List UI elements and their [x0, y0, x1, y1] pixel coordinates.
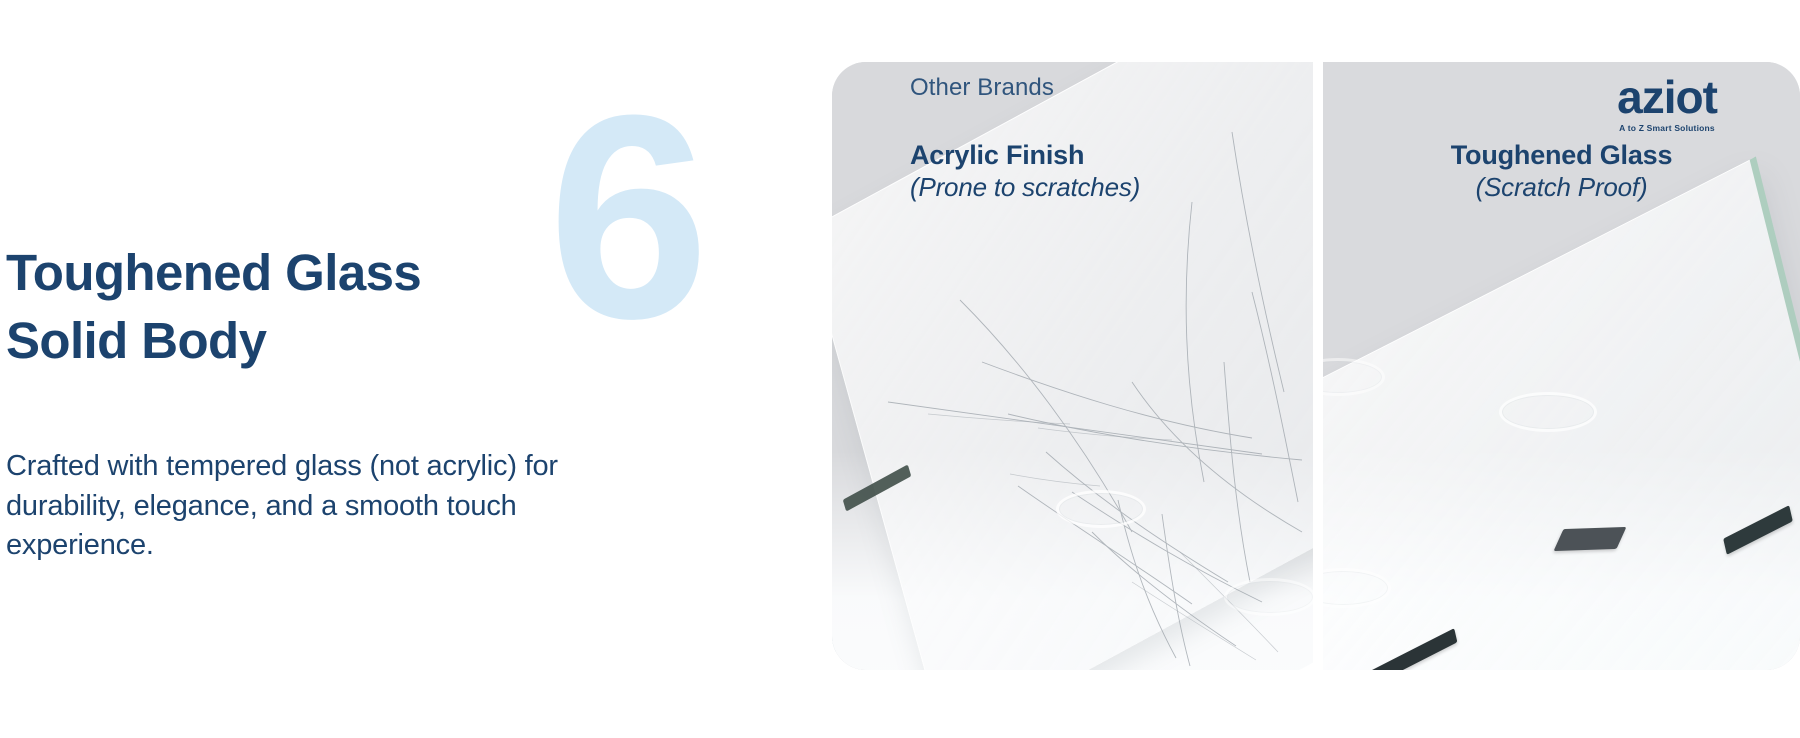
glass-mount-clip-1 [1554, 527, 1627, 551]
aziot-wordmark: aziot [1562, 74, 1772, 120]
toughened-subtitle: (Scratch Proof) [1323, 172, 1800, 203]
comparison-card: Other Brands Acrylic Finish (Prone to sc… [832, 62, 1800, 670]
feature-number: 6 [548, 72, 703, 362]
feature-text-column: 6 Toughened Glass Solid Body Crafted wit… [0, 0, 740, 738]
other-brands-label: Other Brands [910, 74, 1054, 102]
touch-indicator-ring-left-2 [1224, 578, 1313, 616]
aziot-tagline: A to Z Smart Solutions [1562, 123, 1772, 133]
feature-description: Crafted with tempered glass (not acrylic… [6, 447, 646, 566]
touch-indicator-ring-right-1 [1499, 392, 1597, 432]
acrylic-subtitle: (Prone to scratches) [910, 172, 1313, 203]
panel-aziot: aziot A to Z Smart Solutions Toughened G… [1323, 62, 1800, 670]
feature-slide: 6 Toughened Glass Solid Body Crafted wit… [0, 0, 1800, 738]
aziot-logo: aziot A to Z Smart Solutions [1562, 74, 1772, 133]
touch-indicator-ring-left [1056, 490, 1146, 528]
panel-divider [1313, 62, 1323, 670]
acrylic-title-block: Acrylic Finish (Prone to scratches) [832, 140, 1313, 203]
page-title: Toughened Glass Solid Body [6, 239, 566, 375]
headline-line-2: Solid Body [6, 307, 566, 375]
panel-other-brands: Other Brands Acrylic Finish (Prone to sc… [832, 62, 1313, 670]
toughened-title: Toughened Glass [1323, 140, 1800, 172]
headline-line-1: Toughened Glass [6, 239, 566, 307]
acrylic-title: Acrylic Finish [910, 140, 1313, 172]
toughened-title-block: Toughened Glass (Scratch Proof) [1323, 140, 1800, 203]
